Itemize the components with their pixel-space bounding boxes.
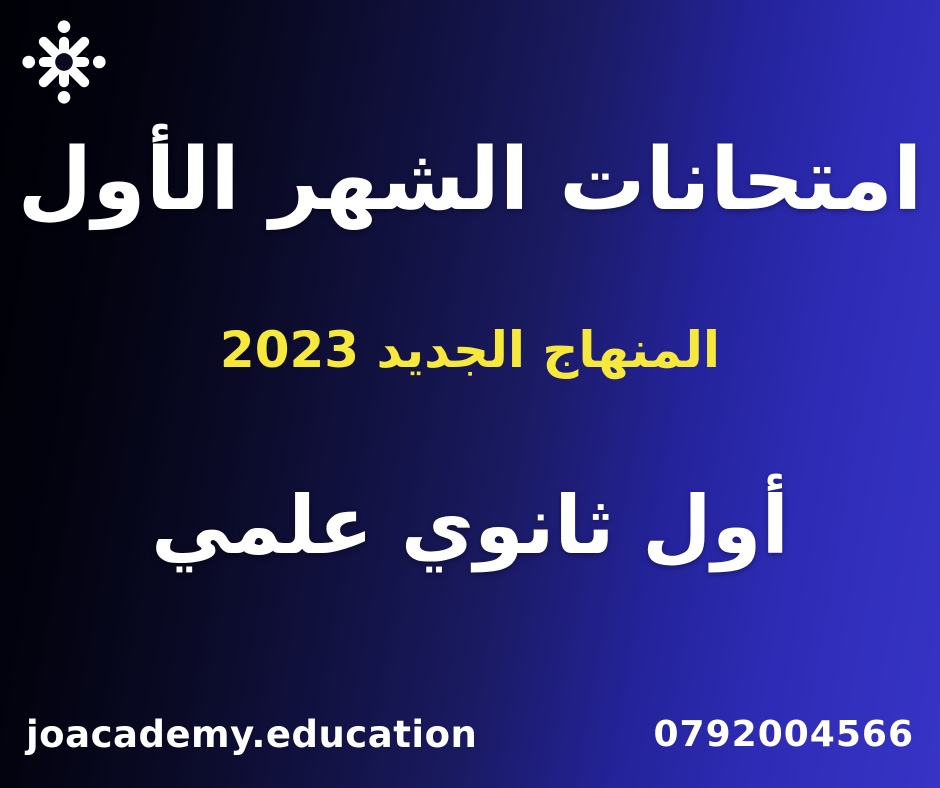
banner-grade-level: أول ثانوي علمي: [0, 468, 940, 584]
banner-footer: joacademy.education 0792004566: [0, 690, 940, 788]
banner-subtitle: المنهاج الجديد 2023: [0, 318, 940, 383]
joacademy-logo: [22, 20, 106, 104]
snowflake-asterisk-icon: [22, 20, 106, 104]
contact-phone-number[interactable]: 0792004566: [654, 714, 915, 755]
website-url[interactable]: joacademy.education: [26, 713, 477, 756]
promo-banner: امتحانات الشهر الأول المنهاج الجديد 2023…: [0, 0, 940, 788]
banner-title: امتحانات الشهر الأول: [0, 118, 940, 243]
